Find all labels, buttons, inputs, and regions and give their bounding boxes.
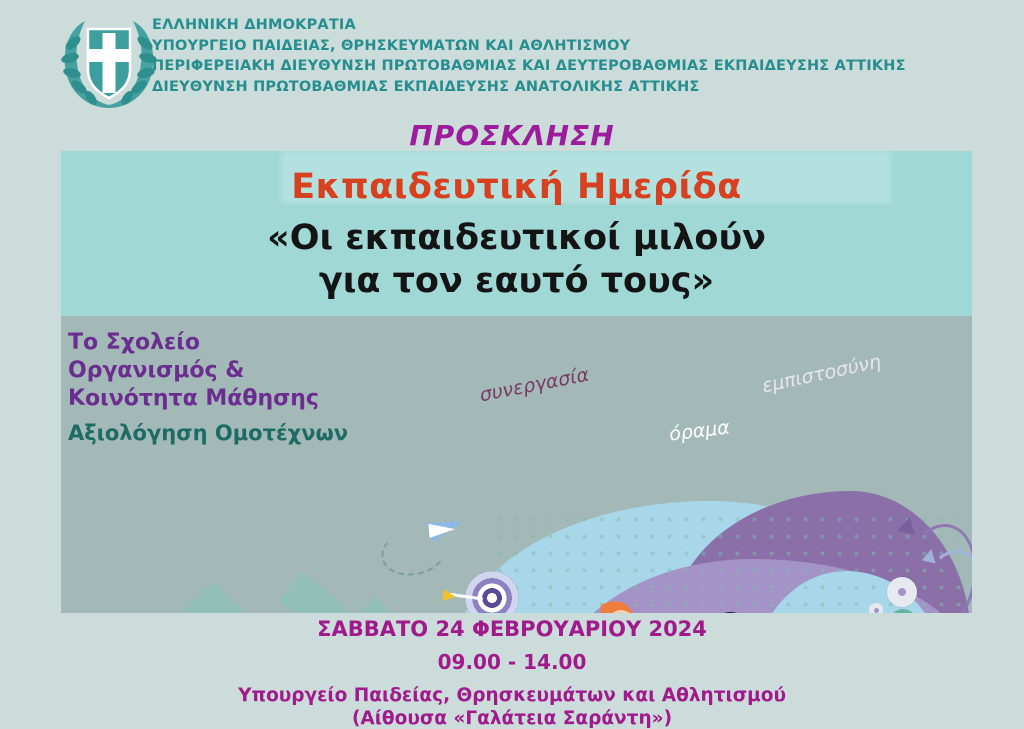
letterhead-line-1: ΕΛΛΗΝΙΚΗ ΔΗΜΟΚΡΑΤΙΑ: [152, 18, 982, 33]
event-venue: Υπουργείο Παιδείας, Θρησκευμάτων και Αθλ…: [0, 685, 1024, 706]
left-subheading: Αξιολόγηση Ομοτέχνων: [68, 421, 428, 445]
person-2: [599, 601, 669, 613]
people-at-table-illustration: [451, 591, 951, 613]
greek-coat-of-arms-icon: [57, 13, 161, 113]
invitation-page: ΕΛΛΗΝΙΚΗ ΔΗΜΟΚΡΑΤΙΑ ΥΠΟΥΡΓΕΙΟ ΠΑΙΔΕΙΑΣ, …: [0, 0, 1024, 724]
left-heading-line-3: Κοινότητα Μάθησης: [68, 385, 398, 413]
document-kind-title: ΠΡΟΣΚΛΗΣΗ: [0, 119, 1024, 152]
letterhead: ΕΛΛΗΝΙΚΗ ΔΗΜΟΚΡΑΤΙΑ ΥΠΟΥΡΓΕΙΟ ΠΑΙΔΕΙΑΣ, …: [0, 0, 1024, 128]
event-title-line-2: για τον εαυτό τους»: [61, 260, 972, 303]
letterhead-line-2: ΥΠΟΥΡΓΕΙΟ ΠΑΙΔΕΙΑΣ, ΘΡΗΣΚΕΥΜΑΤΩΝ ΚΑΙ ΑΘΛ…: [152, 39, 982, 54]
left-heading: Το Σχολείο Οργανισμός & Κοινότητα Μάθηση…: [68, 329, 398, 413]
progress-arrowhead-outer: [898, 515, 919, 534]
person-3: [703, 612, 759, 613]
event-time: 09.00 - 14.00: [0, 650, 1024, 674]
paper-plane-highlight: [429, 522, 456, 538]
letterhead-line-4: ΔΙΕΥΘΥΝΣΗ ΠΡΩΤΟΒΑΘΜΙΑΣ ΕΚΠΑΙΔΕΥΣΗΣ ΑΝΑΤΟ…: [152, 80, 982, 95]
event-type-heading: Εκπαιδευτική Ημερίδα: [61, 167, 972, 207]
chevron-decoration: [123, 571, 443, 613]
left-heading-line-2: Οργανισμός &: [68, 357, 398, 385]
event-title-line-1: «Οι εκπαιδευτικοί μιλούν: [61, 217, 972, 260]
event-details-footer: ΣΑΒΒΑΤΟ 24 ΦΕΒΡΟΥΑΡΙΟΥ 2024 09.00 - 14.0…: [0, 617, 1024, 729]
event-poster: Εκπαιδευτική Ημερίδα «Οι εκπαιδευτικοί μ…: [61, 151, 972, 613]
event-room: (Αίθουσα «Γαλάτεια Σαράντη»): [0, 708, 1024, 729]
event-date: ΣΑΒΒΑΤΟ 24 ΦΕΒΡΟΥΑΡΙΟΥ 2024: [0, 617, 1024, 641]
progress-arrowhead-inner: [922, 548, 938, 564]
left-heading-line-1: Το Σχολείο: [68, 329, 398, 357]
letterhead-text-block: ΕΛΛΗΝΙΚΗ ΔΗΜΟΚΡΑΤΙΑ ΥΠΟΥΡΓΕΙΟ ΠΑΙΔΕΙΑΣ, …: [152, 18, 982, 100]
event-title-heading: «Οι εκπαιδευτικοί μιλούν για τον εαυτό τ…: [61, 217, 972, 302]
letterhead-line-3: ΠΕΡΙΦΕΡΕΙΑΚΗ ΔΙΕΥΘΥΝΣΗ ΠΡΩΤΟΒΑΘΜΙΑΣ ΚΑΙ …: [152, 59, 982, 74]
